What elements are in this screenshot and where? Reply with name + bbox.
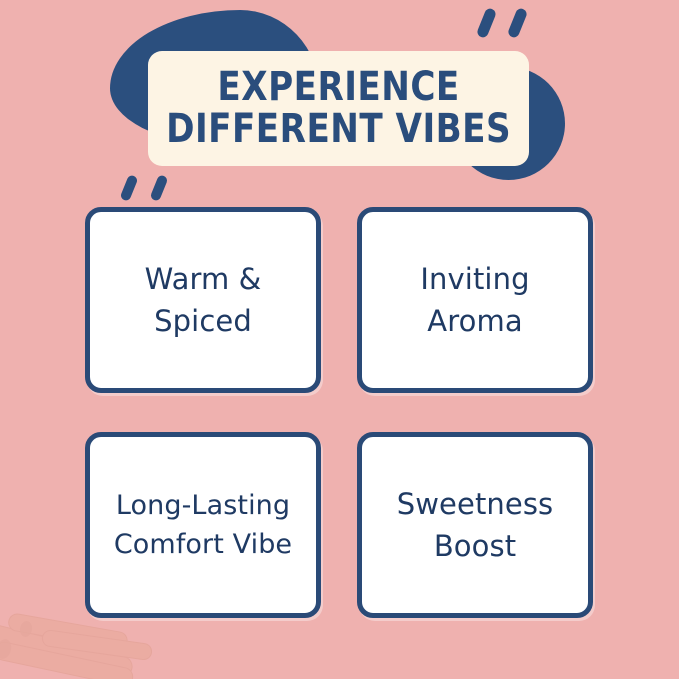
feature-card-label: Sweetness Boost bbox=[397, 483, 554, 567]
quote-mark-icon bbox=[476, 7, 497, 39]
feature-card[interactable]: Inviting Aroma bbox=[357, 207, 593, 393]
feature-card-label: Inviting Aroma bbox=[420, 258, 529, 342]
page-title: EXPERIENCE DIFFERENT VIBES bbox=[160, 67, 516, 149]
quote-mark-icon bbox=[119, 174, 138, 202]
title-banner: EXPERIENCE DIFFERENT VIBES bbox=[148, 51, 529, 166]
feature-card-label: Long-Lasting Comfort Vibe bbox=[114, 486, 292, 564]
feature-card[interactable]: Long-Lasting Comfort Vibe bbox=[85, 432, 321, 618]
quote-mark-icon bbox=[149, 174, 168, 202]
feature-card[interactable]: Warm & Spiced bbox=[85, 207, 321, 393]
quote-mark-icon bbox=[507, 7, 528, 39]
poster-canvas: EXPERIENCE DIFFERENT VIBES Warm & Spiced… bbox=[0, 0, 679, 679]
feature-card-label: Warm & Spiced bbox=[145, 258, 262, 342]
feature-card-grid: Warm & Spiced Inviting Aroma Long-Lastin… bbox=[85, 207, 593, 618]
feature-card[interactable]: Sweetness Boost bbox=[357, 432, 593, 618]
